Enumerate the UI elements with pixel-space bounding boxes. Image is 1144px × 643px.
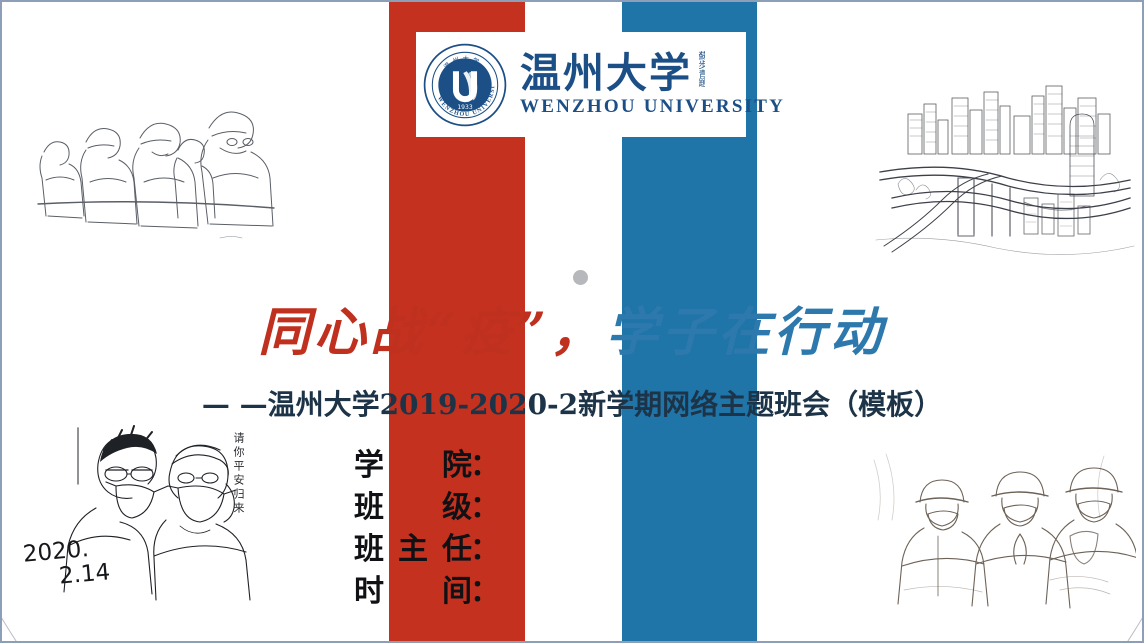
logo-name-cn: 温州大学 蘇步青題	[520, 51, 785, 95]
page-title: 同心战“疫”，学子在行动	[2, 290, 1142, 365]
page-subtitle: — —温州大学2019-2020-2新学期网络主题班会（模板）	[2, 383, 1142, 423]
sketch-medical-workers-line	[20, 94, 278, 252]
field-class-label: 班级	[354, 488, 472, 528]
logo-wordmark: 温州大学 蘇步青題 WENZHOU UNIVERSITY	[520, 51, 785, 118]
logo-seal-mark: 蘇步青題	[696, 51, 705, 95]
sketch-date-annotation: 2020. 2.14	[22, 536, 111, 591]
svg-text:1933: 1933	[457, 104, 472, 111]
field-time-colon: ：	[470, 574, 500, 609]
university-logo: 1933 温 州 大 学 WENZHOU UNIVERSITY 温州大学 蘇步青…	[416, 32, 746, 137]
field-time-label: 时间	[354, 572, 472, 612]
sketch-handwritten-note: 请你平安归来	[230, 432, 246, 516]
field-time[interactable]: 时间：	[354, 572, 500, 612]
meeting-info-fields: 学院： 班级： 班主任： 时间：	[354, 446, 500, 612]
page-title-red: 同心战“疫”，	[258, 302, 606, 363]
field-college-label: 学院	[354, 446, 472, 486]
field-class-colon: ：	[470, 490, 500, 525]
field-class[interactable]: 班级：	[354, 488, 500, 528]
field-college[interactable]: 学院：	[354, 446, 500, 486]
wenzhou-university-seal-icon: 1933 温 州 大 学 WENZHOU UNIVERSITY	[422, 42, 508, 128]
sketch-three-hardhat-workers	[864, 440, 1136, 610]
sketch-date-day: 2.14	[58, 561, 111, 588]
logo-name-cn-text: 温州大学	[520, 52, 692, 95]
presentation-slide: 1933 温 州 大 学 WENZHOU UNIVERSITY 温州大学 蘇步青…	[0, 0, 1144, 643]
sketch-cityscape-overpass	[874, 80, 1136, 258]
field-head-teacher[interactable]: 班主任：	[354, 530, 500, 570]
field-college-colon: ：	[470, 448, 500, 483]
logo-name-en: WENZHOU UNIVERSITY	[520, 96, 785, 118]
field-head-teacher-colon: ：	[470, 532, 500, 567]
field-head-teacher-label: 班主任	[354, 530, 472, 570]
page-title-blue: 学子在行动	[606, 302, 886, 363]
arc-node-dot	[573, 270, 588, 285]
